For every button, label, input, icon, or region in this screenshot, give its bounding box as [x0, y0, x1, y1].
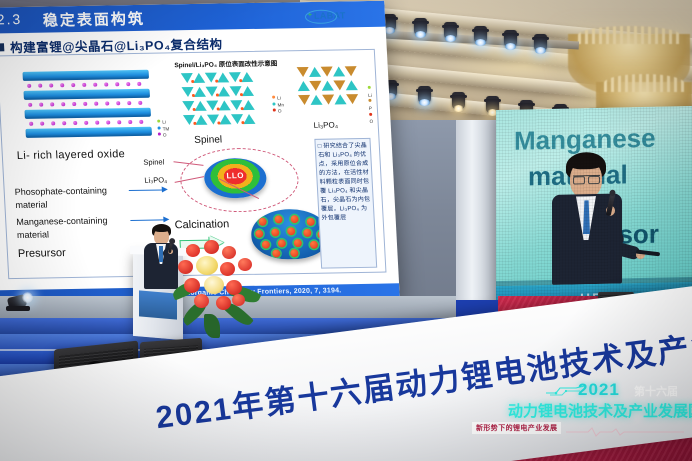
conference-photo: Manganese material sursor HEN [0, 0, 692, 461]
label-spinel-scheme: Spinel/Li₃PO₄ 原位表面改性示意图 [174, 58, 277, 70]
label-spinel: Spinel [194, 134, 222, 145]
legend-spinel: Li Mn O [272, 95, 284, 115]
slide-note-text: 研究结合了尖晶石和 Li₃PO₄ 的优点，采用原位合成的方法，在活性材料颗粒表面… [318, 143, 370, 222]
forum-logo-overlay: 2021 第十六届 动力锂电池技术及产业发展国际论坛 新形势下的锂电产业发展 [556, 378, 688, 440]
arrow-to-phosphate [129, 189, 163, 191]
logo-edition: 第十六届 [634, 383, 678, 399]
llo-core-label: LLO [204, 171, 266, 181]
flower-arrangement [170, 236, 262, 340]
bullet-square-icon [0, 43, 4, 51]
label-li3po4: Li₃PO₄ [313, 120, 338, 129]
logo-year: 2021 [578, 380, 620, 400]
note-marker: □ [318, 144, 322, 150]
slide-section-number: 2.3 [0, 11, 23, 27]
wall-column [456, 120, 496, 330]
label-manganese-material: Manganese-containing material [16, 214, 129, 242]
logo-subtitle: 新形势下的锂电产业发展 [472, 422, 561, 434]
arrow-to-manganese [130, 219, 164, 221]
label-phosphate-material: Phosophate-containing material [14, 184, 127, 212]
callout-li3po4: Li₃PO₄ [144, 175, 167, 184]
label-layered-oxide: Li- rich layered oxide [17, 148, 126, 162]
label-presursor: Presursor [18, 247, 66, 260]
li3po4-lattice [294, 64, 365, 117]
layered-oxide-diagram [22, 66, 156, 146]
labat-logo: +LABAT [314, 10, 346, 21]
legend-layered-oxide: Li TM O [157, 119, 170, 139]
slide-section-title: 稳定表面构筑 [42, 8, 145, 31]
callout-spinel: Spinel [143, 157, 164, 166]
spinel-lattice [179, 70, 264, 127]
legend-li3po4: Li P O [368, 86, 378, 126]
logo-main-title: 动力锂电池技术及产业发展国际论坛 [508, 400, 692, 421]
floor-stage-light [6, 286, 36, 312]
slide-note-box: □ 研究结合了尖晶石和 Li₃PO₄ 的优点，采用原位合成的方法，在活性材料颗粒… [314, 138, 377, 269]
heartbeat-line-icon [566, 426, 684, 438]
